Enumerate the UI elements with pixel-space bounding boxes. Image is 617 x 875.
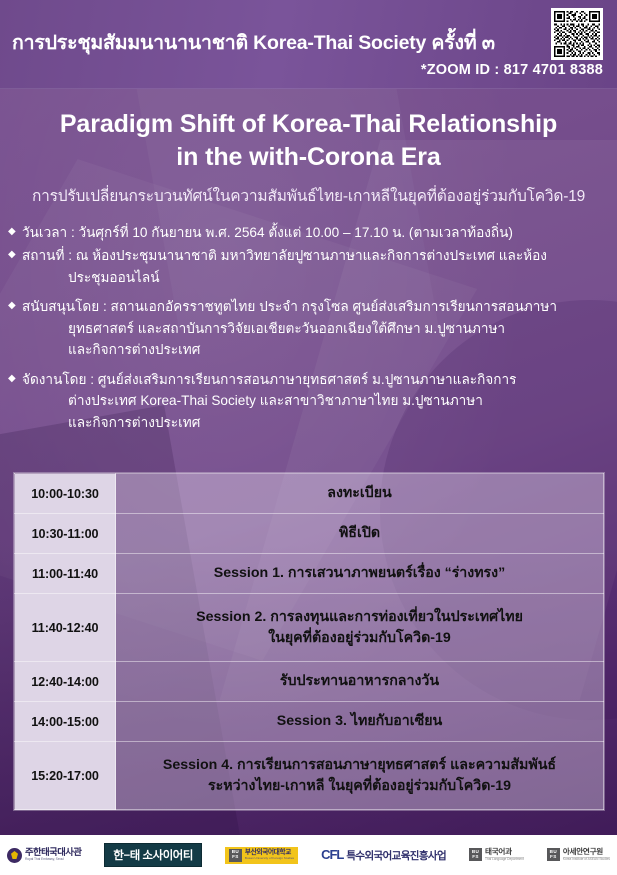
title-en-line-2: in the with-Corona Era (176, 143, 440, 171)
detail-line: สนับสนุนโดย : สถานเอกอัครราชทูตไทย ประจำ… (22, 296, 609, 317)
detail-datetime: ◆ วันเวลา : วันศุกร์ที่ 10 กันยายน พ.ศ. … (8, 222, 609, 243)
header-band: การประชุมสัมมนานานาชาติ Korea-Thai Socie… (0, 0, 617, 89)
logo-bufs-en: Busan University of Foreign Studies (245, 857, 294, 860)
schedule-time: 14:00-15:00 (15, 702, 116, 742)
topic-line: ในยุคที่ต้องอยู่ร่วมกับโควิด-19 (124, 628, 595, 649)
schedule-topic: รับประทานอาหารกลางวัน (116, 662, 604, 702)
topic-line: Session 1. การเสวนาภาพยนตร์เรื่อง “ร่างท… (124, 563, 595, 584)
cfl-wordmark: CFL (321, 847, 343, 862)
topic-line: Session 3. ไทยกับอาเซียน (124, 711, 595, 732)
topic-line: พิธีเปิด (124, 523, 595, 544)
page-title-th: การปรับเปลี่ยนกระบวนทัศน์ในความสัมพันธ์ไ… (0, 183, 617, 208)
schedule-time: 11:40-12:40 (15, 594, 116, 662)
table-row: 12:40-14:00 รับประทานอาหารกลางวัน (15, 662, 604, 702)
logo-bufs: BU FS 부산외국어대학교 Busan University of Forei… (225, 847, 298, 864)
thai-badge-line-2: FS (472, 855, 479, 860)
detail-line: ยุทธศาสตร์ และสถาบันการวิจัยเอเชียตะวันอ… (22, 318, 609, 339)
logo-royal-thai-embassy: 주한태국대사관 Royal Thai Embassy, Seoul (7, 843, 81, 867)
garuda-emblem-icon (7, 848, 22, 863)
logo-asean-kr: 아세안연구원 (563, 848, 610, 856)
schedule-topic: ลงทะเบียน (116, 474, 604, 514)
topic-line: ระหว่างไทย-เกาหลี ในยุคที่ต้องอยู่ร่วมกั… (124, 776, 595, 797)
header-title: การประชุมสัมมนานานาชาติ Korea-Thai Socie… (12, 27, 542, 58)
zoom-id-text: *ZOOM ID : 817 4701 8388 (421, 62, 603, 78)
bullet-icon: ◆ (8, 222, 22, 242)
schedule-time: 15:20-17:00 (15, 742, 116, 810)
detail-line: และกิจการต่างประเทศ (22, 412, 609, 433)
title-en-line-1: Paradigm Shift of Korea-Thai Relationshi… (60, 110, 557, 138)
event-details: ◆ วันเวลา : วันศุกร์ที่ 10 กันยายน พ.ศ. … (8, 222, 609, 435)
schedule-topic: Session 1. การเสวนาภาพยนตร์เรื่อง “ร่างท… (116, 554, 604, 594)
logo-asean-text: 아세안연구원 Korea Institute of ASEAN Studies (563, 848, 610, 861)
bullet-icon: ◆ (8, 245, 22, 265)
schedule-table: 10:00-10:30 ลงทะเบียน 10:30-11:00 พิธีเป… (14, 473, 604, 810)
bullet-icon: ◆ (8, 369, 22, 389)
logo-thai-text: 태국어과 Thai Language Department (485, 848, 524, 861)
bullet-icon: ◆ (8, 296, 22, 316)
logo-asean-institute: BU FS 아세안연구원 Korea Institute of ASEAN St… (547, 848, 610, 861)
bufs-badge-icon: BU FS (547, 848, 560, 861)
logo-thai-en: Thai Language Department (485, 857, 524, 862)
table-row: 11:40-12:40 Session 2. การลงทุนและการท่อ… (15, 594, 604, 662)
schedule-topic: Session 4. การเรียนการสอนภาษายุทธศาสตร์ … (116, 742, 604, 810)
topic-line: ลงทะเบียน (124, 483, 595, 504)
bufs-badge-icon: BU FS (469, 848, 482, 861)
detail-venue: ◆ สถานที่ : ณ ห้องประชุมนานาชาติ มหาวิทย… (8, 245, 609, 288)
detail-line: จัดงานโดย : ศูนย์ส่งเสริมการเรียนการสอนภ… (22, 369, 609, 390)
header-inner: การประชุมสัมมนานานาชาติ Korea-Thai Socie… (0, 0, 617, 88)
schedule-time: 10:30-11:00 (15, 514, 116, 554)
schedule-time: 12:40-14:00 (15, 662, 116, 702)
schedule-topic: พิธีเปิด (116, 514, 604, 554)
table-row: 10:00-10:30 ลงทะเบียน (15, 474, 604, 514)
table-row: 14:00-15:00 Session 3. ไทยกับอาเซียน (15, 702, 604, 742)
bufs-badge-icon: BU FS (229, 849, 242, 862)
schedule-topic: Session 3. ไทยกับอาเซียน (116, 702, 604, 742)
page-title-en: Paradigm Shift of Korea-Thai Relationshi… (0, 108, 617, 173)
topic-line: รับประทานอาหารกลางวัน (124, 671, 595, 692)
logo-cfl: CFL 특수외국어교육진흥사업 (321, 847, 446, 863)
table-row: 10:30-11:00 พิธีเปิด (15, 514, 604, 554)
qr-code-icon[interactable] (551, 8, 603, 60)
schedule-topic: Session 2. การลงทุนและการท่องเที่ยวในประ… (116, 594, 604, 662)
footer-logo-strip: 주한태국대사관 Royal Thai Embassy, Seoul 한−태 소사… (0, 835, 617, 875)
detail-organized-by: ◆ จัดงานโดย : ศูนย์ส่งเสริมการเรียนการสอ… (8, 369, 609, 433)
logo-embassy-text: 주한태국대사관 Royal Thai Embassy, Seoul (25, 848, 81, 861)
topic-line: Session 2. การลงทุนและการท่องเที่ยวในประ… (124, 607, 595, 628)
logo-asean-en: Korea Institute of ASEAN Studies (563, 857, 610, 862)
poster-root: การประชุมสัมมนานานาชาติ Korea-Thai Socie… (0, 0, 617, 875)
asean-badge-line-2: FS (550, 855, 557, 860)
detail-line: ประชุมออนไลน์ (22, 267, 609, 288)
schedule-time: 10:00-10:30 (15, 474, 116, 514)
table-row: 11:00-11:40 Session 1. การเสวนาภาพยนตร์เ… (15, 554, 604, 594)
logo-thai-department: BU FS 태국어과 Thai Language Department (469, 848, 524, 861)
logo-thai-kr: 태국어과 (485, 848, 524, 856)
qr-code-svg (554, 11, 600, 57)
logo-cfl-kr: 특수외국어교육진흥사업 (346, 848, 446, 863)
detail-line: ต่างประเทศ Korea-Thai Society และสาขาวิช… (22, 390, 609, 411)
logo-bufs-text: 부산외국어대학교 Busan University of Foreign Stu… (245, 850, 294, 860)
detail-line: วันเวลา : วันศุกร์ที่ 10 กันยายน พ.ศ. 25… (22, 222, 609, 243)
topic-line: Session 4. การเรียนการสอนภาษายุทธศาสตร์ … (124, 755, 595, 776)
logo-embassy-en: Royal Thai Embassy, Seoul (25, 858, 81, 862)
schedule-time: 11:00-11:40 (15, 554, 116, 594)
detail-line: สถานที่ : ณ ห้องประชุมนานาชาติ มหาวิทยาล… (22, 245, 609, 266)
detail-line: และกิจการต่างประเทศ (22, 339, 609, 360)
table-row: 15:20-17:00 Session 4. การเรียนการสอนภาษ… (15, 742, 604, 810)
bufs-badge-line-2: FS (232, 855, 239, 860)
schedule-body: 10:00-10:30 ลงทะเบียน 10:30-11:00 พิธีเป… (15, 474, 604, 810)
detail-supported-by: ◆ สนับสนุนโดย : สถานเอกอัครราชทูตไทย ประ… (8, 296, 609, 360)
logo-korea-thai-society: 한−태 소사이어티 (104, 843, 202, 867)
